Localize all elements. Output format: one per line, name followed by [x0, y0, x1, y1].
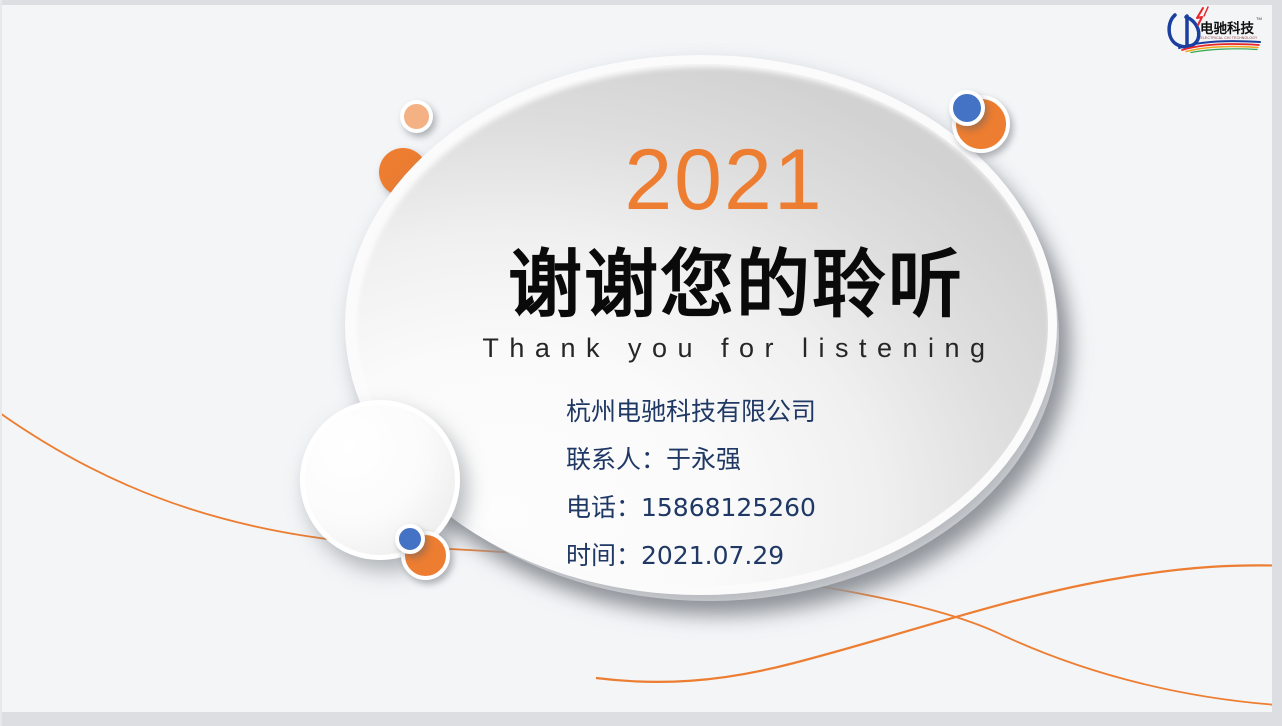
contact-line-date: 时间：2021.07.29 [566, 532, 816, 580]
contact-info-block: 杭州电驰科技有限公司 联系人：于永强 电话：15868125260 时间：202… [566, 388, 816, 580]
logo-trademark: TM [1256, 16, 1262, 21]
decorative-circle-blue-bottom-left [395, 524, 425, 554]
logo-company-en: ELECTRICAL CHI TECHNOLOGY [1201, 36, 1259, 40]
contact-line-person: 联系人：于永强 [566, 436, 816, 484]
headline-english: Thank you for listening [98, 335, 1282, 362]
headline-chinese: 谢谢您的聆听 [95, 248, 1282, 322]
viewer-frame-right [1272, 0, 1282, 726]
company-logo: 电驰科技 ELECTRICAL CHI TECHNOLOGY TM [1164, 5, 1270, 53]
viewer-frame-top [0, 0, 1282, 5]
contact-line-company: 杭州电驰科技有限公司 [566, 388, 816, 436]
viewer-frame-left [0, 0, 2, 726]
viewer-frame-bottom [0, 712, 1282, 726]
decorative-circle-pale-orange-top-left [400, 100, 433, 133]
contact-line-phone: 电话：15868125260 [566, 484, 816, 532]
decorative-circle-blue-top-right [949, 90, 985, 126]
logo-company-cn: 电驰科技 [1200, 20, 1254, 37]
presentation-slide: 2021 谢谢您的聆听 Thank you for listening 杭州电驰… [0, 0, 1282, 726]
year-label: 2021 [83, 137, 1282, 223]
